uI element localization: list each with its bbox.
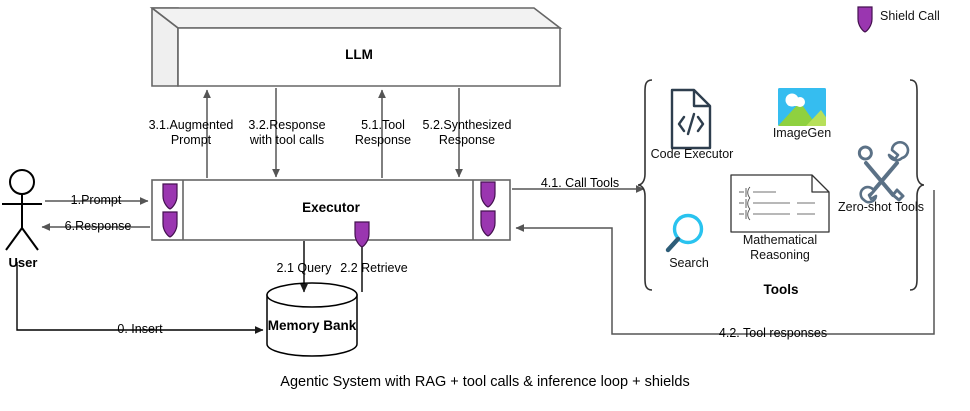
- edge-label-response: 6.Response: [52, 219, 144, 234]
- diagram-caption: Agentic System with RAG + tool calls & i…: [0, 375, 970, 390]
- tool-label-zero-shot-tools: Zero-shot Tools: [838, 200, 924, 215]
- shield-icon-legend: [858, 7, 872, 32]
- memory-bank-label: Memory Bank: [257, 318, 367, 333]
- edge-label-retrieve: 2.2 Retrieve: [325, 261, 423, 276]
- llm-label: LLM: [304, 47, 414, 62]
- edge-insert: [17, 262, 263, 330]
- tool-label-code-executor: Code Executor: [646, 147, 738, 162]
- formula-document-icon[interactable]: [731, 175, 829, 232]
- shield-icon: [355, 222, 369, 247]
- edge-label-augmented-prompt: 3.1.Augmented Prompt: [141, 118, 241, 148]
- tool-label-image-gen: ImageGen: [762, 126, 842, 141]
- crossed-tools-icon[interactable]: [859, 142, 908, 202]
- tool-label-math-reasoning: Mathematical Reasoning: [722, 233, 838, 263]
- legend-label: Shield Call: [880, 9, 970, 24]
- edge-label-synthesized-response: 5.2.Synthesized Response: [414, 118, 520, 148]
- edge-label-insert: 0. Insert: [90, 322, 190, 337]
- edge-label-response-tool-calls: 3.2.Response with tool calls: [232, 118, 342, 148]
- diagram-canvas: [0, 0, 970, 411]
- magnifier-icon[interactable]: [668, 216, 702, 251]
- tools-group-label: Tools: [726, 282, 836, 297]
- edge-label-call-tools: 4.1. Call Tools: [528, 176, 632, 191]
- user-label: User: [0, 255, 46, 270]
- code-document-icon[interactable]: [672, 90, 710, 148]
- agentic-system-diagram: LLM Executor Memory Bank User Tools 0. I…: [0, 0, 970, 411]
- edge-label-tool-responses: 4.2. Tool responses: [711, 326, 835, 341]
- executor-label: Executor: [276, 200, 386, 215]
- edge-label-tool-response: 5.1.Tool Response: [344, 118, 422, 148]
- tool-label-search: Search: [656, 256, 722, 271]
- user-actor[interactable]: [2, 170, 42, 250]
- image-photo-icon[interactable]: [778, 88, 832, 126]
- edge-label-prompt: 1.Prompt: [52, 193, 140, 208]
